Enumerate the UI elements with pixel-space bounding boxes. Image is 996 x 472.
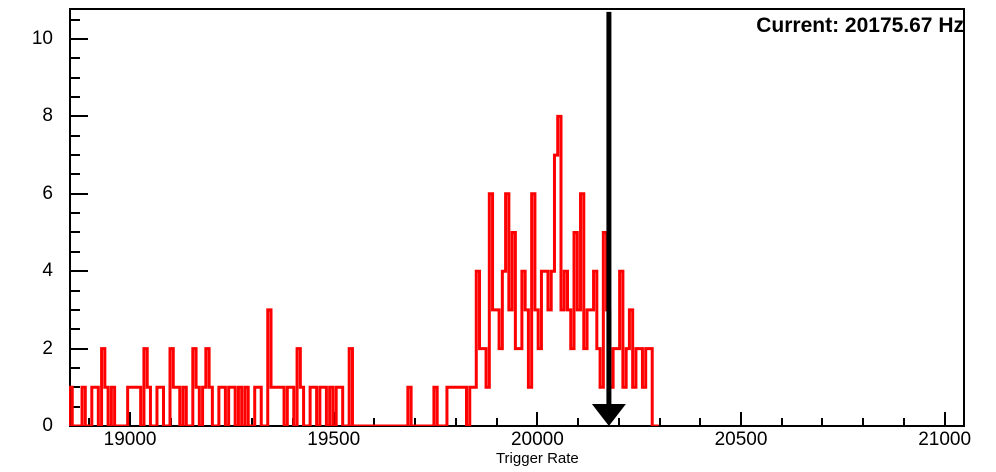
x-tick-label: 21000 bbox=[885, 430, 996, 449]
x-axis-title: Trigger Rate bbox=[437, 450, 637, 467]
y-tick-label: 2 bbox=[13, 339, 53, 358]
x-tick-label: 19500 bbox=[274, 430, 394, 449]
y-tick-label: 10 bbox=[13, 29, 53, 48]
y-tick-label: 0 bbox=[13, 416, 53, 435]
plot-area bbox=[69, 8, 965, 426]
x-tick-label: 20500 bbox=[681, 430, 801, 449]
histogram-series bbox=[69, 8, 965, 426]
y-tick-label: 4 bbox=[13, 261, 53, 280]
y-tick-label: 6 bbox=[13, 184, 53, 203]
histogram-outline bbox=[69, 116, 659, 426]
histogram-panel: Current: 20175.67 Hz 0246810 19000195002… bbox=[0, 0, 996, 472]
x-tick-label: 19000 bbox=[70, 430, 190, 449]
x-tick-label: 20000 bbox=[477, 430, 597, 449]
y-tick-label: 8 bbox=[13, 106, 53, 125]
